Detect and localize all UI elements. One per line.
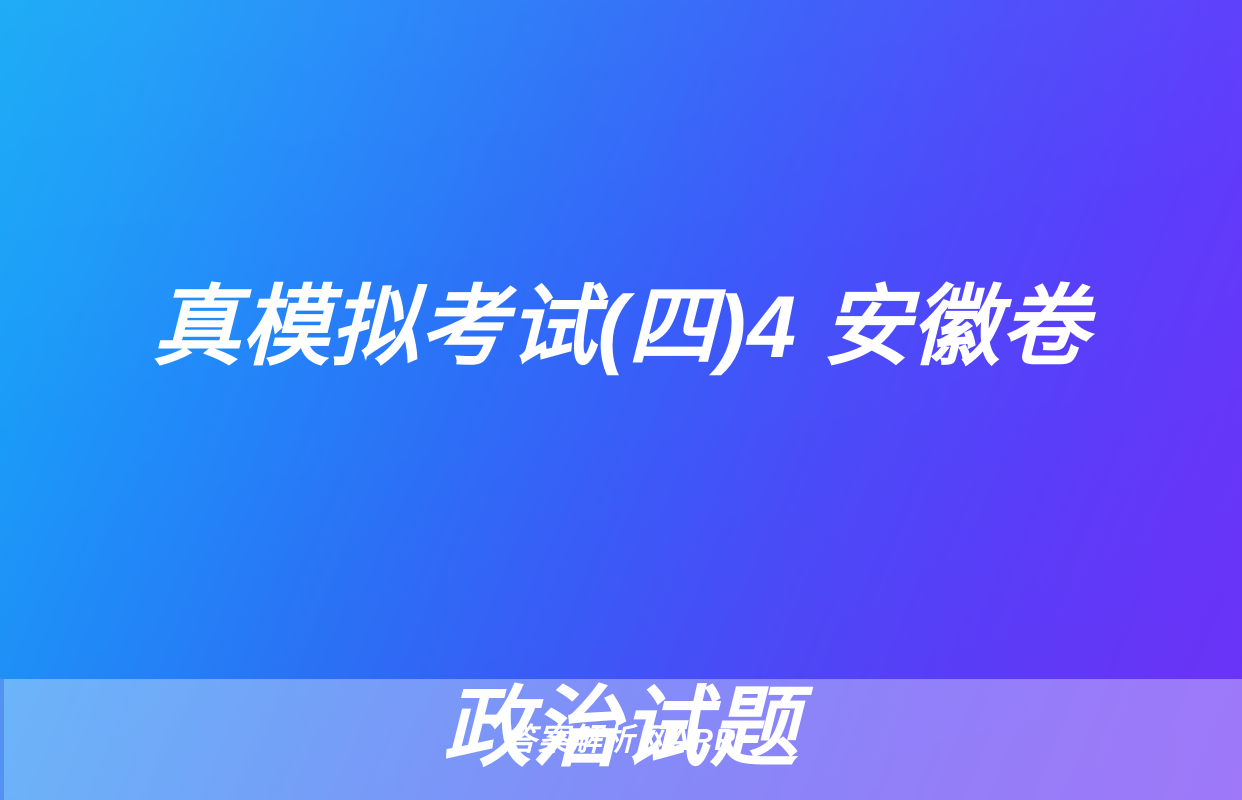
title-line-2: 真模拟考试(四)4 安徽卷 xyxy=(152,260,1089,394)
app-watermark-label: 答案解析网APP xyxy=(506,724,737,755)
footer-watermark-band: 答案解析网APP xyxy=(0,679,1242,800)
exam-cover-card: 百师联盟 2024届高三仿 真模拟考试(四)4 安徽卷 政治试题 答案解析网AP… xyxy=(0,0,1242,800)
title-block: 百师联盟 2024届高三仿 真模拟考试(四)4 安徽卷 政治试题 xyxy=(0,0,1242,679)
